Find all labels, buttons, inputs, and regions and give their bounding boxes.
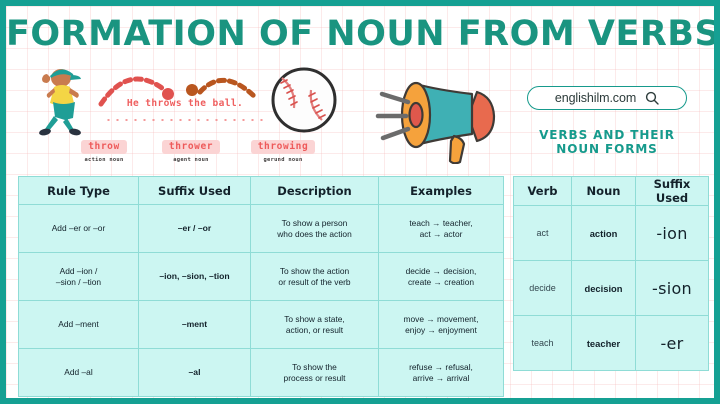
cell-noun: action [572, 206, 636, 261]
column-header-verb: Verb [514, 177, 572, 206]
column-header-description: Description [251, 177, 379, 205]
brand-badge[interactable]: englishilm.com [527, 86, 687, 110]
cell-suffix: -er [636, 316, 709, 371]
cell-rule-type: Add –er or –or [19, 205, 139, 253]
baseball-illustration [268, 64, 340, 136]
cell-verb: act [514, 206, 572, 261]
infographic-canvas: FORMATION OF NOUN FROM VERBS He throws t… [0, 0, 720, 404]
word-chip-group: throwing gerund noun [240, 136, 326, 163]
boy-throwing-illustration [34, 64, 96, 136]
table-header-row: Rule Type Suffix Used Description Exampl… [19, 177, 504, 205]
cell-description: To show a personwho does the action [251, 205, 379, 253]
cell-examples: move → movement,enjoy → enjoyment [379, 301, 504, 349]
cell-suffix-used: –ment [139, 301, 251, 349]
column-header-rule-type: Rule Type [19, 177, 139, 205]
table-row: teach teacher -er [514, 316, 709, 371]
table-header-row: Verb Noun Suffix Used [514, 177, 709, 206]
subtitle: VERBS AND THEIR NOUN FORMS [506, 128, 708, 156]
cell-description: To show a state,action, or result [251, 301, 379, 349]
word-chip-caption: gerund noun [240, 157, 326, 163]
megaphone-illustration [374, 64, 506, 164]
cell-description: To show theprocess or result [251, 349, 379, 397]
cell-suffix-used: –al [139, 349, 251, 397]
word-chip-caption: agent noun [150, 157, 232, 163]
table-row: Add –er or –or –er / –or To show a perso… [19, 205, 504, 253]
word-chip-group: thrower agent noun [150, 136, 232, 163]
table-row: Add –ment –ment To show a state,action, … [19, 301, 504, 349]
table-row: Add –al –al To show theprocess or result… [19, 349, 504, 397]
brand-label: englishilm.com [555, 91, 636, 105]
word-chip: thrower [162, 140, 220, 154]
table-row: decide decision -sion [514, 261, 709, 316]
column-header-suffix-used: Suffix Used [139, 177, 251, 205]
cell-verb: decide [514, 261, 572, 316]
header-section: FORMATION OF NOUN FROM VERBS He throws t… [6, 6, 714, 168]
cell-suffix-used: –ion, –sion, –tion [139, 253, 251, 301]
cell-rule-type: Add –ion /–sion / –tion [19, 253, 139, 301]
cell-verb: teach [514, 316, 572, 371]
cell-rule-type: Add –ment [19, 301, 139, 349]
word-chip-caption: action noun [68, 157, 140, 163]
cell-examples: teach → teacher,act → actor [379, 205, 504, 253]
column-header-suffix-used: Suffix Used [636, 177, 709, 206]
verb-noun-table: Verb Noun Suffix Used act action -ion de… [513, 176, 709, 371]
subtitle-line-1: VERBS AND THEIR [506, 128, 708, 142]
search-icon [645, 91, 659, 105]
cell-rule-type: Add –al [19, 349, 139, 397]
page-title: FORMATION OF NOUN FROM VERBS [6, 14, 714, 54]
word-chip: throwing [251, 140, 316, 154]
cell-noun: teacher [572, 316, 636, 371]
cell-noun: decision [572, 261, 636, 316]
table-row: act action -ion [514, 206, 709, 261]
dotted-underline [104, 118, 269, 122]
subtitle-line-2: NOUN FORMS [506, 142, 708, 156]
word-chip: throw [81, 140, 127, 154]
table-row: Add –ion /–sion / –tion –ion, –sion, –ti… [19, 253, 504, 301]
rules-table: Rule Type Suffix Used Description Exampl… [18, 176, 504, 397]
cell-suffix: -ion [636, 206, 709, 261]
cell-description: To show the actionor result of the verb [251, 253, 379, 301]
cell-examples: decide → decision,create → creation [379, 253, 504, 301]
cell-examples: refuse → refusal,arrive → arrival [379, 349, 504, 397]
column-header-noun: Noun [572, 177, 636, 206]
word-chip-group: throw action noun [68, 136, 140, 163]
cell-suffix-used: –er / –or [139, 205, 251, 253]
cell-suffix: -sion [636, 261, 709, 316]
column-header-examples: Examples [379, 177, 504, 205]
example-sentence: He throws the ball. [100, 98, 270, 109]
